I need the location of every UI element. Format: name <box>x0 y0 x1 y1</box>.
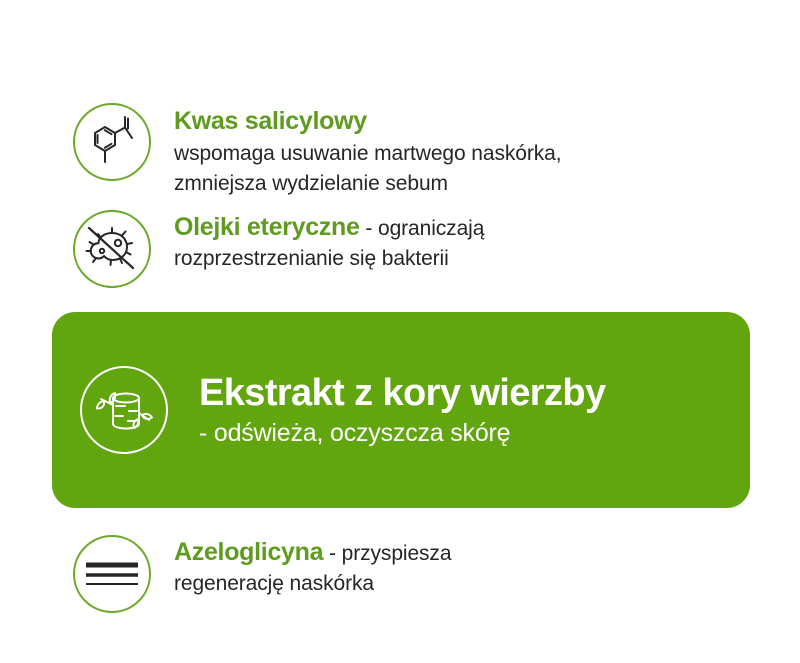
benzene-molecule-icon <box>73 103 151 181</box>
ingredient-panel-willow-bark-extract: Ekstrakt z kory wierzby - odświeża, oczy… <box>52 312 750 508</box>
ingredient-headline: Azeloglicyna - przyspiesza <box>174 537 733 569</box>
ingredient-description-line: rozprzestrzenianie się bakterii <box>174 244 733 274</box>
ingredient-description-line: ograniczają <box>378 217 484 240</box>
no-bacteria-icon <box>73 210 151 288</box>
ingredient-name: Azeloglicyna <box>174 538 323 566</box>
ingredient-text-azeloglycine: Azeloglicyna - przyspiesza regenerację n… <box>151 535 733 599</box>
ingredient-row-salicylic-acid: Kwas salicylowy wspomaga usuwanie martwe… <box>73 103 733 199</box>
skin-layers-lines-icon <box>73 535 151 613</box>
ingredient-separator: - <box>365 217 372 240</box>
ingredient-row-azeloglycine: Azeloglicyna - przyspiesza regenerację n… <box>73 535 733 613</box>
ingredient-text-salicylic-acid: Kwas salicylowy wspomaga usuwanie martwe… <box>151 103 733 199</box>
ingredient-row-essential-oils: Olejki eteryczne - ograniczają rozprzest… <box>73 210 733 288</box>
ingredient-name: Kwas salicylowy <box>174 105 733 138</box>
ingredient-description-line: zmniejsza wydzielanie sebum <box>174 169 733 199</box>
tree-log-leaves-icon <box>80 366 168 454</box>
ingredients-infographic: Kwas salicylowy wspomaga usuwanie martwe… <box>0 0 800 663</box>
ingredient-description-line: wspomaga usuwanie martwego naskórka, <box>174 139 733 169</box>
ingredient-text-essential-oils: Olejki eteryczne - ograniczają rozprzest… <box>151 210 733 274</box>
ingredient-description-line: regenerację naskórka <box>174 569 733 599</box>
ingredient-name: Olejki eteryczne <box>174 213 360 241</box>
ingredient-description-line: - odświeża, oczyszcza skórę <box>199 416 750 450</box>
ingredient-separator: - <box>329 542 336 565</box>
ingredient-headline: Olejki eteryczne - ograniczają <box>174 212 733 244</box>
ingredient-description-line: przyspiesza <box>342 542 452 565</box>
ingredient-text-willow-bark-extract: Ekstrakt z kory wierzby - odświeża, oczy… <box>168 370 750 450</box>
ingredient-name: Ekstrakt z kory wierzby <box>199 370 750 416</box>
